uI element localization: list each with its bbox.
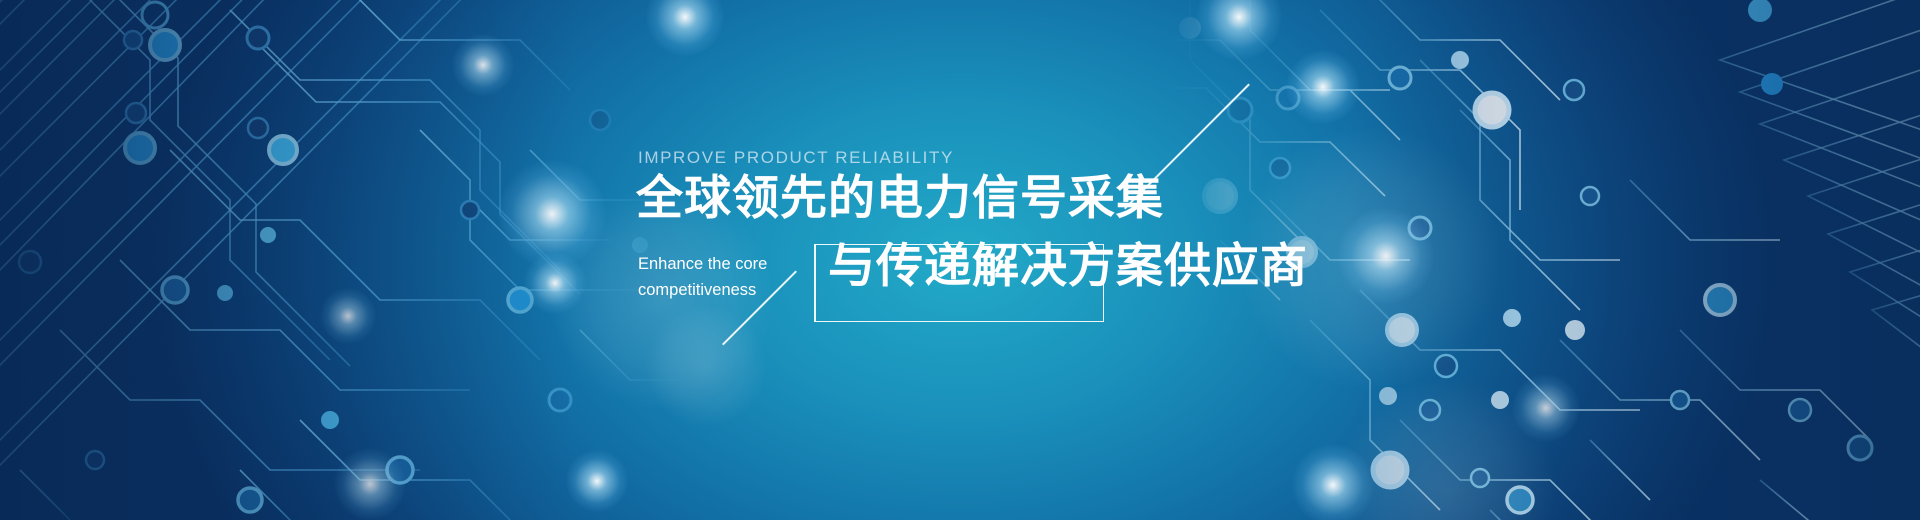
glow-haze bbox=[1336, 380, 1556, 520]
glow-dot bbox=[646, 0, 724, 56]
banner-headline-line-1: 全球领先的电力信号采集 bbox=[636, 170, 1164, 225]
subtitle-en-line-2: competitiveness bbox=[638, 278, 806, 304]
glow-dot bbox=[524, 252, 586, 314]
banner-eyebrow: IMPROVE PRODUCT RELIABILITY bbox=[638, 148, 954, 168]
subtitle-en-line-1: Enhance the core bbox=[638, 252, 806, 278]
circuit-pattern-left bbox=[0, 0, 700, 520]
hero-banner: IMPROVE PRODUCT RELIABILITY 全球领先的电力信号采集 … bbox=[0, 0, 1920, 520]
glow-dot bbox=[320, 288, 376, 344]
glow-dot bbox=[1286, 50, 1360, 124]
glow-dot bbox=[566, 450, 628, 512]
vertical-divider-rule bbox=[814, 244, 816, 322]
glow-dot bbox=[498, 160, 606, 268]
banner-subtitle-en: Enhance the core competitiveness bbox=[638, 252, 806, 303]
banner-headline-line-2: 与传递解决方案供应商 bbox=[828, 238, 1308, 293]
banner-copy: IMPROVE PRODUCT RELIABILITY 全球领先的电力信号采集 … bbox=[638, 148, 1338, 338]
glow-dot bbox=[1196, 0, 1282, 60]
glow-dot bbox=[334, 448, 406, 520]
glow-dot bbox=[1512, 374, 1580, 442]
glow-dot bbox=[1338, 208, 1434, 304]
glow-dot bbox=[1292, 444, 1374, 520]
glow-dot bbox=[452, 34, 514, 96]
